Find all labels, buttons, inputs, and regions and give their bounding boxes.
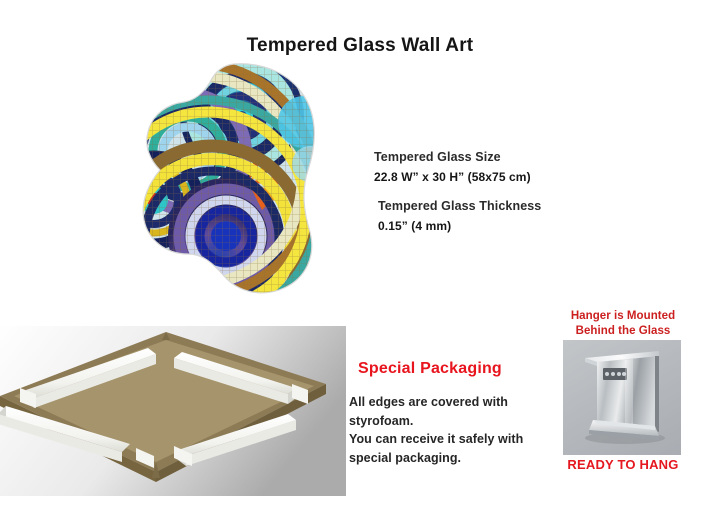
infographic-page: Tempered Glass Wall Art [0,0,720,512]
hanger-photo [563,340,681,455]
specifications-block: Tempered Glass Size 22.8 W” x 30 H” (58x… [374,149,584,247]
packaging-line-3: You can receive it safely with [349,430,549,449]
page-title: Tempered Glass Wall Art [0,35,720,57]
mosaic-artwork-image [138,60,324,298]
spec-item-size: Tempered Glass Size 22.8 W” x 30 H” (58x… [374,149,584,186]
packaging-line-1: All edges are covered with [349,393,549,412]
hanger-heading-line-2: Behind the Glass [556,324,690,339]
packaging-line-4: special packaging. [349,449,549,468]
ready-to-hang-label: READY TO HANG [556,457,690,472]
spec-label-thickness: Tempered Glass Thickness [378,198,584,215]
packaging-heading: Special Packaging [358,360,502,378]
spec-value-size: 22.8 W” x 30 H” (58x75 cm) [374,169,584,186]
packaging-description: All edges are covered with styrofoam. Yo… [349,393,549,467]
packaging-line-2: styrofoam. [349,412,549,431]
spec-value-thickness: 0.15” (4 mm) [378,218,584,235]
spec-item-thickness: Tempered Glass Thickness 0.15” (4 mm) [378,198,584,235]
packaging-illustration [0,326,346,496]
spec-label-size: Tempered Glass Size [374,149,584,166]
hanger-heading-line-1: Hanger is Mounted [556,309,690,324]
hanger-heading: Hanger is Mounted Behind the Glass [556,309,690,338]
